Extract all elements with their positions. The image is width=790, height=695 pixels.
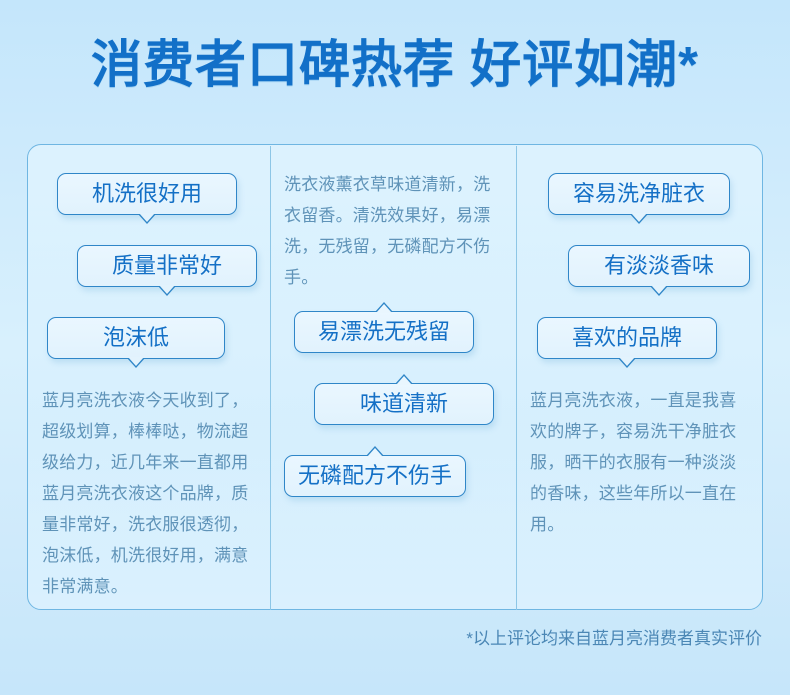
bubble-tail-down-icon: [138, 214, 156, 224]
review-tag-label: 容易洗净脏衣: [573, 181, 705, 206]
review-text-left: 蓝月亮洗衣液今天收到了，超级划算，棒棒哒，物流超级给力，近几年来一直都用蓝月亮洗…: [42, 385, 260, 602]
bubble-tail-up-icon: [366, 446, 384, 456]
review-tag-favorite-brand[interactable]: 喜欢的品牌: [537, 317, 717, 359]
review-tag-label: 味道清新: [360, 391, 448, 416]
review-tag-label: 有淡淡香味: [604, 253, 714, 278]
review-tag-light-fragrance[interactable]: 有淡淡香味: [568, 245, 750, 287]
review-tag-label: 无磷配方不伤手: [298, 463, 452, 488]
review-tag-label: 易漂洗无残留: [318, 319, 450, 344]
review-tag-label: 喜欢的品牌: [572, 325, 682, 350]
bubble-tail-down-icon: [618, 358, 636, 368]
review-tag-easy-rinse[interactable]: 易漂洗无残留: [294, 311, 474, 353]
review-tag-phosphate-free[interactable]: 无磷配方不伤手: [284, 455, 466, 497]
review-text-middle: 洗衣液薰衣草味道清新，洗衣留香。清洗效果好，易漂洗，无残留，无磷配方不伤手。: [284, 169, 501, 293]
bubble-tail-down-icon: [127, 358, 145, 368]
bubble-tail-down-icon: [630, 214, 648, 224]
review-column-right: 容易洗净脏衣 有淡淡香味 喜欢的品牌 蓝月亮洗衣液，一直是我喜欢的牌子，容易洗干…: [517, 145, 764, 611]
reviews-panel: 机洗很好用 质量非常好 泡沫低 蓝月亮洗衣液今天收到了，超级划算，棒棒哒，物流超…: [27, 144, 763, 610]
review-tag-machine-wash[interactable]: 机洗很好用: [57, 173, 237, 215]
review-column-left: 机洗很好用 质量非常好 泡沫低 蓝月亮洗衣液今天收到了，超级划算，棒棒哒，物流超…: [28, 145, 270, 611]
review-tag-great-quality[interactable]: 质量非常好: [77, 245, 257, 287]
bubble-tail-down-icon: [650, 286, 668, 296]
review-tag-low-foam[interactable]: 泡沫低: [47, 317, 225, 359]
page-title: 消费者口碑热荐 好评如潮*: [0, 34, 790, 96]
review-tag-fresh-scent[interactable]: 味道清新: [314, 383, 494, 425]
bubble-tail-up-icon: [395, 374, 413, 384]
bubble-tail-down-icon: [158, 286, 176, 296]
review-tag-label: 泡沫低: [103, 325, 169, 350]
footnote-disclaimer: *以上评论均来自蓝月亮消费者真实评价: [466, 628, 762, 650]
review-text-right: 蓝月亮洗衣液，一直是我喜欢的牌子，容易洗干净脏衣服，晒干的衣服有一种淡淡的香味，…: [530, 385, 750, 540]
review-tag-cleans-dirty-clothes[interactable]: 容易洗净脏衣: [548, 173, 730, 215]
promo-poster: 消费者口碑热荐 好评如潮* 机洗很好用 质量非常好 泡沫低 蓝月亮洗衣液今天收到…: [0, 0, 790, 695]
review-column-middle: 洗衣液薰衣草味道清新，洗衣留香。清洗效果好，易漂洗，无残留，无磷配方不伤手。 易…: [271, 145, 516, 611]
bubble-tail-up-icon: [375, 302, 393, 312]
review-tag-label: 机洗很好用: [92, 181, 202, 206]
review-tag-label: 质量非常好: [112, 253, 222, 278]
